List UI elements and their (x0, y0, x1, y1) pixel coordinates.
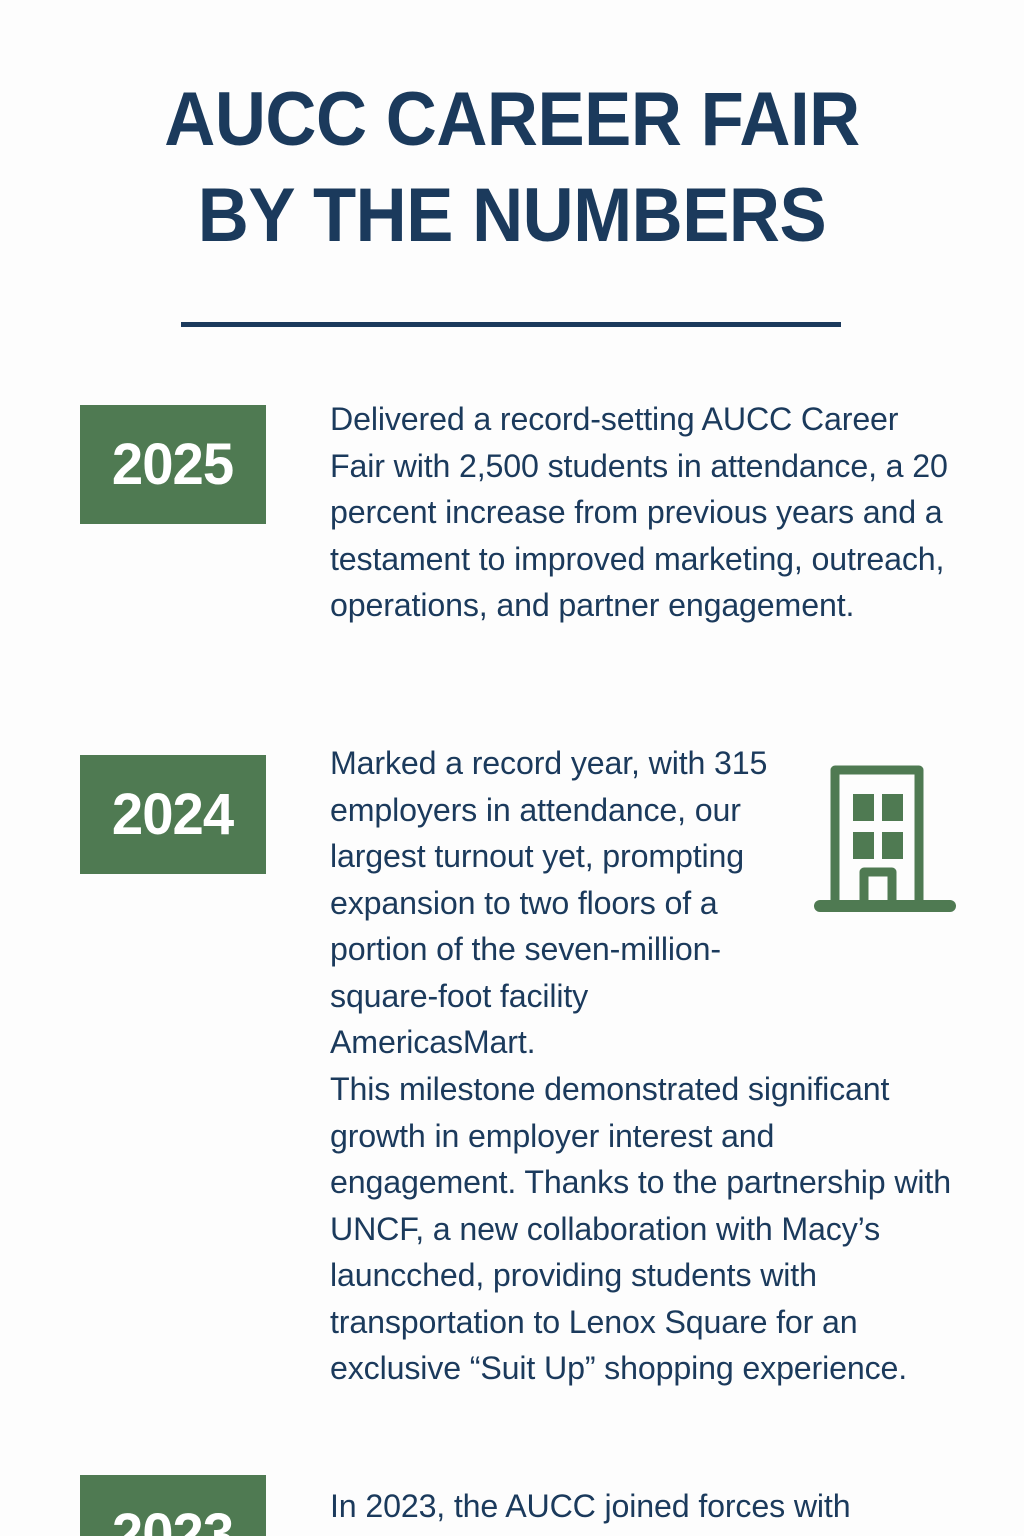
title-divider (181, 322, 841, 327)
entry-2025-text: Delivered a record-setting AUCC Career F… (330, 396, 954, 629)
page-title: AUCC CAREER FAIR BY THE NUMBERS (0, 72, 1024, 264)
entry-2024-text-part-a: Marked a record year, with 315 employers… (330, 740, 795, 1066)
entry-2023-text: In 2023, the AUCC joined forces with UNC… (330, 1483, 964, 1536)
title-line-2: BY THE NUMBERS (36, 168, 988, 264)
entry-2024-text-part-b: This milestone demonstrated significant … (330, 1066, 964, 1392)
infographic-page: AUCC CAREER FAIR BY THE NUMBERS 2025 Del… (0, 0, 1024, 1536)
building-icon (812, 762, 958, 922)
year-badge-2024: 2024 (80, 755, 266, 874)
year-badge-label: 2023 (112, 1506, 233, 1536)
year-badge-label: 2025 (112, 436, 233, 494)
year-badge-2025: 2025 (80, 405, 266, 524)
year-badge-2023: 2023 (80, 1475, 266, 1536)
title-line-1: AUCC CAREER FAIR (36, 72, 988, 168)
year-badge-label: 2024 (112, 786, 233, 844)
